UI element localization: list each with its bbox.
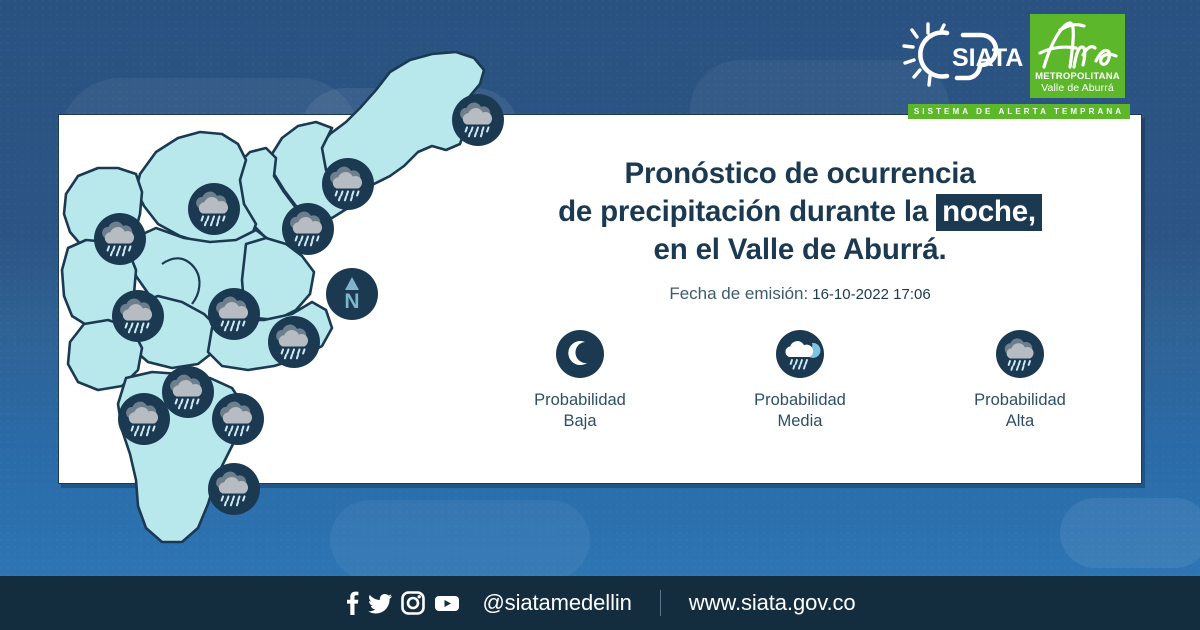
headline-line-2-text: de precipitación durante la [558,195,928,228]
marker-itagui[interactable] [112,290,164,342]
probability-legend: Probabilidad Baja Probabilidad Media [470,330,1130,432]
emission-date-label: Fecha de emisión: [669,284,808,303]
area-metropolitana-logo: METROPOLITANA Valle de Aburrá [1030,14,1125,98]
marker-barbosa-sur[interactable] [208,463,260,515]
marker-san-pedro[interactable] [94,213,146,265]
moon-icon [556,330,604,378]
emission-date: Fecha de emisión:16-10-2022 17:06 [470,284,1130,305]
marker-caldas[interactable] [118,393,170,445]
legend-item-baja: Probabilidad Baja [498,330,663,432]
instagram-icon[interactable] [400,590,426,616]
north-arrow-icon: N [326,268,378,320]
emission-date-value: 16-10-2022 17:06 [812,286,930,303]
headline-line-3: en el Valle de Aburrá. [470,231,1130,269]
page-title: Pronóstico de ocurrencia de precipitació… [470,155,1130,269]
website-url[interactable]: www.siata.gov.co [689,590,856,616]
legend-alta-line2: Alta [974,411,1066,432]
svg-text:N: N [344,290,359,313]
marker-barbosa[interactable] [452,94,504,146]
valle-de-aburra-map: N [60,48,520,573]
footer-divider [660,590,661,616]
brand-logos: SIATA METROPOLITANA Valle de Aburrá SIST… [900,14,1130,112]
area-logo-line2: Valle de Aburrá [1041,82,1114,94]
siata-wordmark: SIATA [952,44,1023,72]
forecast-panel: Pronóstico de ocurrencia de precipitació… [470,155,1130,305]
legend-media-line2: Media [754,411,846,432]
legend-alta-line1: Probabilidad [974,390,1066,411]
marker-medellin[interactable] [208,288,260,340]
marker-envigado[interactable] [268,316,320,368]
youtube-icon[interactable] [433,590,461,616]
tagline-text: SISTEMA DE ALERTA TEMPRANA [914,107,1124,116]
headline-highlight: noche, [936,194,1042,231]
twitter-icon[interactable] [367,590,393,616]
footer-bar: @siatamedellin www.siata.gov.co [0,576,1200,630]
legend-label-baja: Probabilidad Baja [534,390,626,432]
headline-line-2: de precipitación durante la noche, [470,193,1130,231]
social-handle[interactable]: @siatamedellin [482,590,631,616]
headline-line-1: Pronóstico de ocurrencia [470,155,1130,193]
tagline-bar: SISTEMA DE ALERTA TEMPRANA [908,104,1130,119]
cloud-moon-rain-icon [776,330,824,378]
cloud-heavy-rain-icon [996,330,1044,378]
marker-copacabana[interactable] [282,203,334,255]
marker-sabaneta[interactable] [212,393,264,445]
legend-item-media: Probabilidad Media [718,330,883,432]
legend-baja-line2: Baja [534,411,626,432]
decorative-cloud-bottom-right [1060,498,1200,568]
legend-item-alta: Probabilidad Alta [938,330,1103,432]
legend-label-alta: Probabilidad Alta [974,390,1066,432]
siata-logo: SIATA [900,16,1028,96]
legend-media-line1: Probabilidad [754,390,846,411]
facebook-icon[interactable] [344,590,360,616]
legend-label-media: Probabilidad Media [754,390,846,432]
marker-bello[interactable] [188,183,240,235]
legend-baja-line1: Probabilidad [534,390,626,411]
area-script-icon [1030,17,1125,73]
